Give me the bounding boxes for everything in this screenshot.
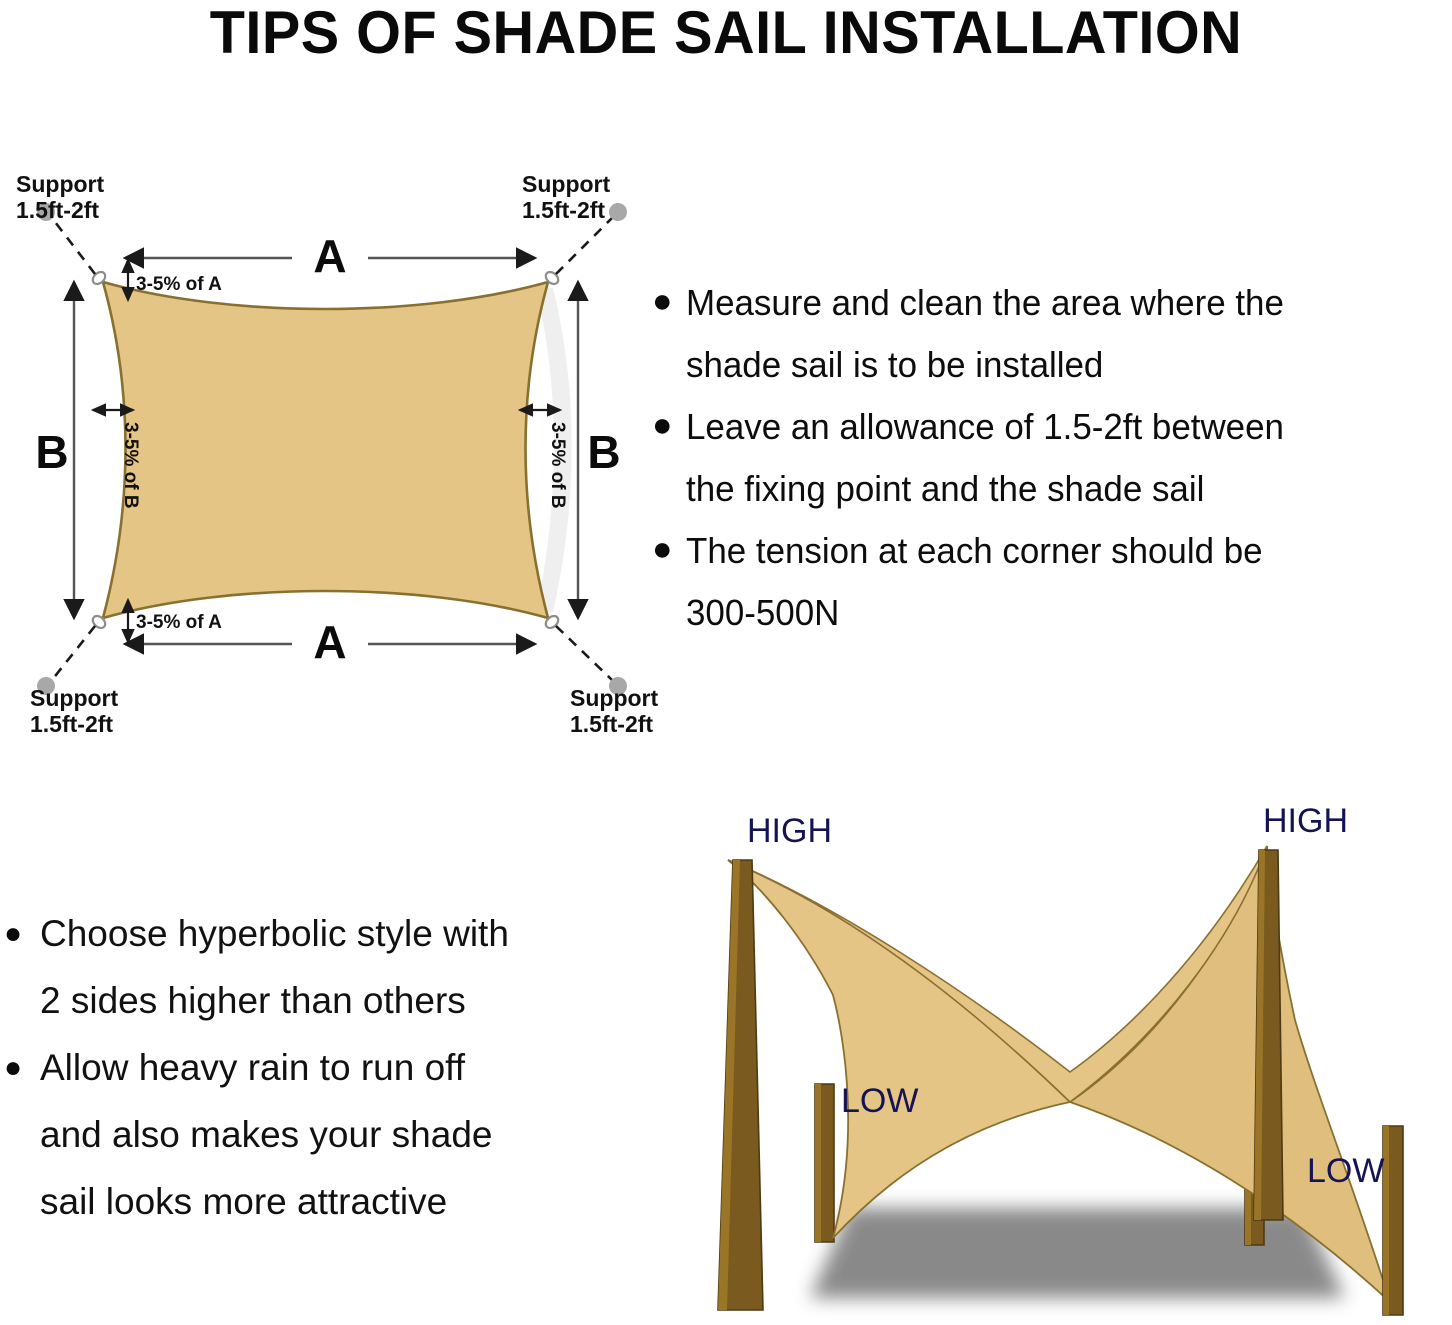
dimension-label-a-bottom: A bbox=[313, 616, 346, 668]
support-label-top-left-line1: Support bbox=[16, 171, 104, 197]
bullet-icon: ● bbox=[4, 900, 40, 967]
curvature-label-top: 3-5% of A bbox=[136, 274, 222, 295]
style-text-line: sail looks more attractive bbox=[40, 1168, 644, 1235]
list-item: ● The tension at each corner should be bbox=[652, 520, 1452, 582]
support-label-top-right-line2: 1.5ft-2ft bbox=[522, 197, 605, 223]
dimension-b-right: B bbox=[578, 282, 621, 618]
tip-text-line: 300-500N bbox=[686, 582, 1429, 644]
curvature-label-bottom: 3-5% of A bbox=[136, 612, 222, 633]
list-item-continuation: sail looks more attractive bbox=[4, 1168, 644, 1235]
curvature-label-right: 3-5% of B bbox=[547, 422, 568, 509]
label-low-left: LOW bbox=[841, 1082, 918, 1120]
dimension-label-b-left: B bbox=[35, 426, 68, 478]
hyperbolic-style-list: ● Choose hyperbolic style with 2 sides h… bbox=[4, 900, 644, 1235]
post-low-far-right bbox=[1383, 1126, 1403, 1315]
bullet-icon: ● bbox=[652, 396, 686, 454]
bullet-icon: ● bbox=[652, 520, 686, 578]
style-text-line: and also makes your shade bbox=[40, 1101, 644, 1168]
list-item: ● Leave an allowance of 1.5-2ft between bbox=[652, 396, 1452, 458]
curvature-callout-left: 3-5% of B bbox=[93, 410, 141, 509]
post-high-left bbox=[718, 860, 763, 1310]
support-label-bottom-right-line1: Support bbox=[570, 685, 658, 711]
post-low-left bbox=[815, 1084, 834, 1242]
tip-text-line: Measure and clean the area where the bbox=[686, 272, 1429, 334]
tip-text-line: the fixing point and the shade sail bbox=[686, 458, 1429, 520]
rect-sail-diagram: A A B B 3-5% of A bbox=[0, 160, 660, 740]
infographic-page: TIPS OF SHADE SAIL INSTALLATION bbox=[0, 0, 1452, 1325]
tip-text-line: The tension at each corner should be bbox=[686, 520, 1429, 582]
hyperbolic-sail-diagram: HIGH HIGH LOW LOW bbox=[655, 790, 1450, 1325]
list-item-continuation: shade sail is to be installed bbox=[652, 334, 1452, 396]
curvature-label-left: 3-5% of B bbox=[120, 422, 141, 509]
list-item: ● Allow heavy rain to run off bbox=[4, 1034, 644, 1101]
support-label-bottom-left-line2: 1.5ft-2ft bbox=[30, 711, 113, 737]
label-high-left: HIGH bbox=[747, 812, 832, 850]
support-label-top-right-line1: Support bbox=[522, 171, 610, 197]
support-label-bottom-right-line2: 1.5ft-2ft bbox=[570, 711, 653, 737]
list-item-continuation: the fixing point and the shade sail bbox=[652, 458, 1452, 520]
page-title: TIPS OF SHADE SAIL INSTALLATION bbox=[29, 2, 1423, 64]
curvature-callout-top: 3-5% of A bbox=[128, 260, 222, 300]
support-label-top-left-line2: 1.5ft-2ft bbox=[16, 197, 99, 223]
installation-tips-list: ● Measure and clean the area where the s… bbox=[652, 272, 1452, 644]
dimension-label-b-right: B bbox=[587, 426, 620, 478]
label-high-right: HIGH bbox=[1263, 802, 1348, 840]
tip-text-line: shade sail is to be installed bbox=[686, 334, 1429, 396]
style-text-line: Choose hyperbolic style with bbox=[40, 900, 644, 967]
support-label-bottom-left-line1: Support bbox=[30, 685, 118, 711]
list-item: ● Choose hyperbolic style with bbox=[4, 900, 644, 967]
label-low-right: LOW bbox=[1307, 1152, 1384, 1190]
style-text-line: 2 sides higher than others bbox=[40, 967, 644, 1034]
bullet-icon: ● bbox=[4, 1034, 40, 1101]
dimension-label-a-top: A bbox=[313, 230, 346, 282]
tip-text-line: Leave an allowance of 1.5-2ft between bbox=[686, 396, 1429, 458]
post-high-right bbox=[1254, 850, 1283, 1220]
style-text-line: Allow heavy rain to run off bbox=[40, 1034, 644, 1101]
dimension-b-left: B bbox=[35, 282, 74, 618]
list-item-continuation: 300-500N bbox=[652, 582, 1452, 644]
list-item-continuation: and also makes your shade bbox=[4, 1101, 644, 1168]
sail-fabric bbox=[103, 282, 548, 618]
list-item-continuation: 2 sides higher than others bbox=[4, 967, 644, 1034]
bullet-icon: ● bbox=[652, 272, 686, 330]
list-item: ● Measure and clean the area where the bbox=[652, 272, 1452, 334]
